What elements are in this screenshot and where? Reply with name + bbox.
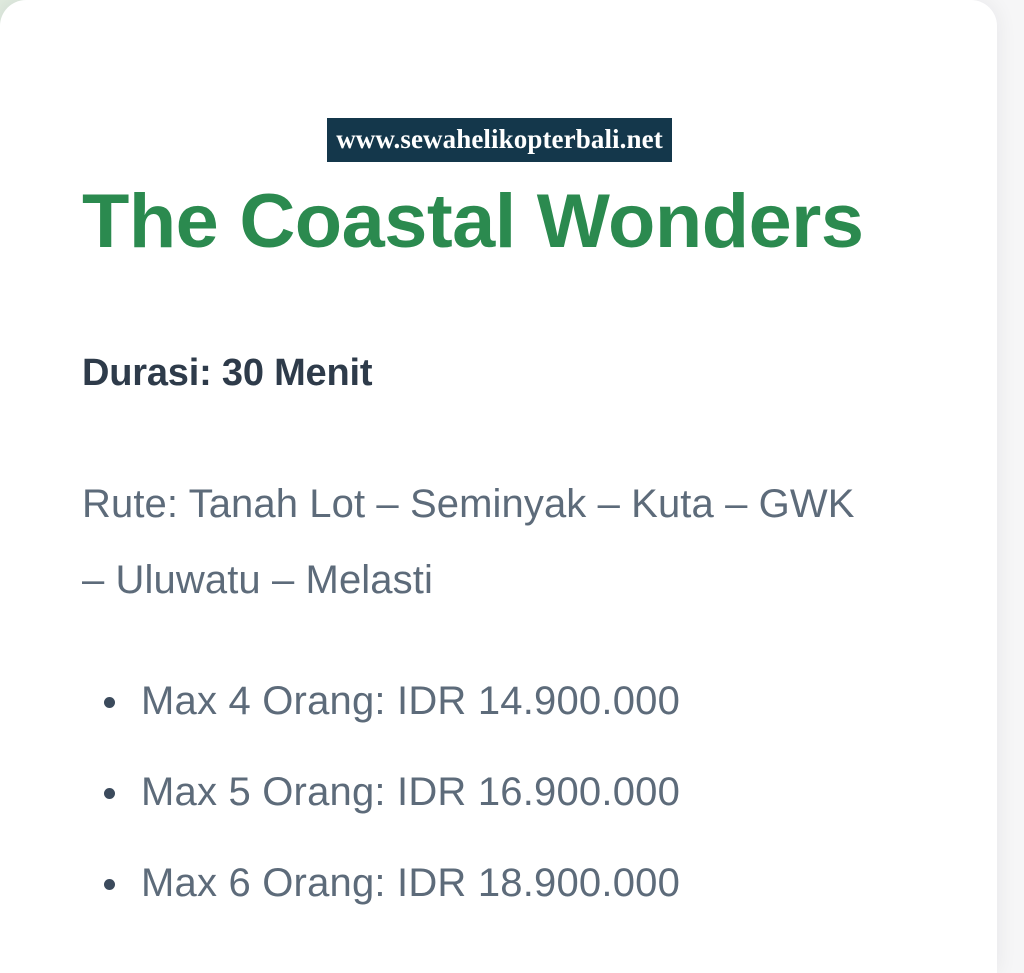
list-item: Max 6 Orang: IDR 18.900.000	[82, 838, 882, 929]
package-duration: Durasi: 30 Menit	[82, 350, 372, 396]
screen: www.sewahelikopterbali.net The Coastal W…	[0, 0, 1024, 973]
price-label: Max 4 Orang: IDR 14.900.000	[141, 679, 680, 723]
watermark-row: www.sewahelikopterbali.net	[82, 118, 917, 162]
list-item: Max 4 Orang: IDR 14.900.000	[82, 656, 882, 747]
package-route: Rute: Tanah Lot – Seminyak – Kuta – GWK …	[82, 466, 872, 618]
price-label: Max 5 Orang: IDR 16.900.000	[141, 770, 680, 814]
package-price-list: Max 4 Orang: IDR 14.900.000 Max 5 Orang:…	[82, 656, 882, 929]
site-watermark-badge: www.sewahelikopterbali.net	[327, 118, 672, 162]
package-card: www.sewahelikopterbali.net The Coastal W…	[0, 0, 997, 973]
bullet-icon	[104, 697, 115, 708]
package-title: The Coastal Wonders	[82, 176, 863, 268]
list-item: Max 5 Orang: IDR 16.900.000	[82, 747, 882, 838]
price-label: Max 6 Orang: IDR 18.900.000	[141, 861, 680, 905]
bullet-icon	[104, 879, 115, 890]
bullet-icon	[104, 788, 115, 799]
